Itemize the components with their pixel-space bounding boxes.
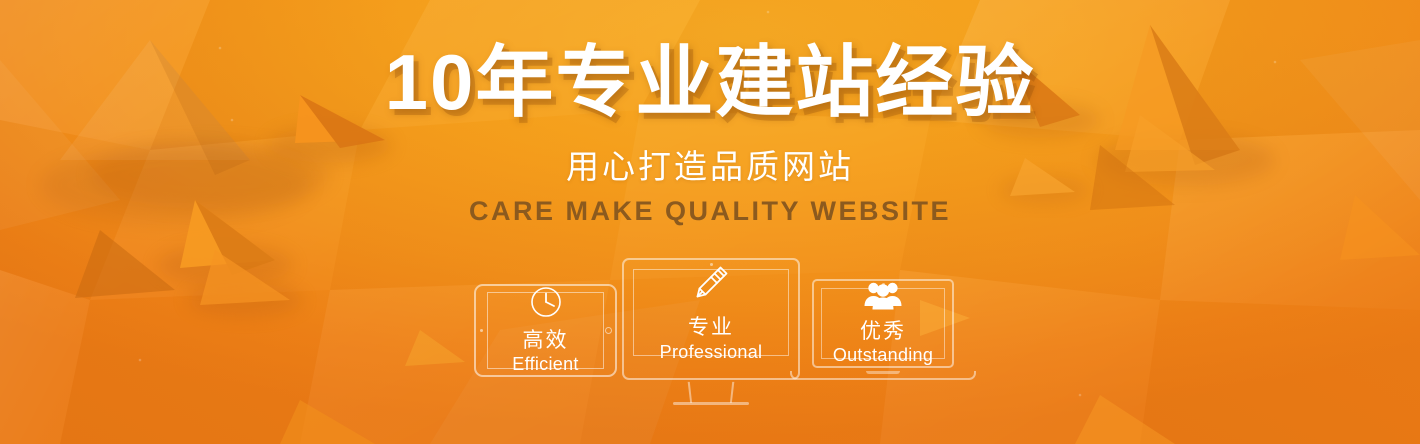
clock-icon bbox=[529, 285, 563, 324]
banner-subheadline-cn: 用心打造品质网站 bbox=[0, 140, 1420, 188]
feature-label-cn-efficient: 高效 bbox=[523, 329, 569, 353]
monitor-stand-neck bbox=[688, 382, 735, 403]
banner-subheadline-en: CARE MAKE QUALITY WEBSITE bbox=[0, 196, 1420, 227]
feature-label-en-efficient: Efficient bbox=[512, 354, 578, 376]
feature-card-outstanding[interactable]: 优秀 Outstanding bbox=[812, 279, 954, 368]
feature-label-en-outstanding: Outstanding bbox=[833, 345, 933, 367]
tablet-home-button-icon bbox=[605, 327, 612, 334]
promo-banner: 10年专业建站经验 用心打造品质网站 CARE MAKE QUALITY WEB… bbox=[0, 0, 1420, 444]
people-group-icon bbox=[863, 280, 903, 315]
banner-text-block: 10年专业建站经验 用心打造品质网站 CARE MAKE QUALITY WEB… bbox=[0, 0, 1420, 227]
pencil-icon bbox=[689, 261, 733, 310]
feature-label-cn-outstanding: 优秀 bbox=[860, 320, 906, 344]
feature-label-en-professional: Professional bbox=[660, 342, 763, 364]
monitor-stand-base bbox=[673, 402, 749, 405]
banner-headline: 10年专业建站经验 bbox=[0, 0, 1420, 124]
feature-card-professional[interactable]: 专业 Professional bbox=[622, 258, 800, 380]
feature-card-efficient[interactable]: 高效 Efficient bbox=[474, 284, 617, 377]
laptop-trackpad-notch-icon bbox=[866, 371, 900, 374]
feature-devices-row: 高效 Efficient bbox=[0, 252, 1420, 422]
tablet-camera-dot bbox=[480, 329, 483, 332]
feature-label-cn-professional: 专业 bbox=[688, 316, 734, 340]
